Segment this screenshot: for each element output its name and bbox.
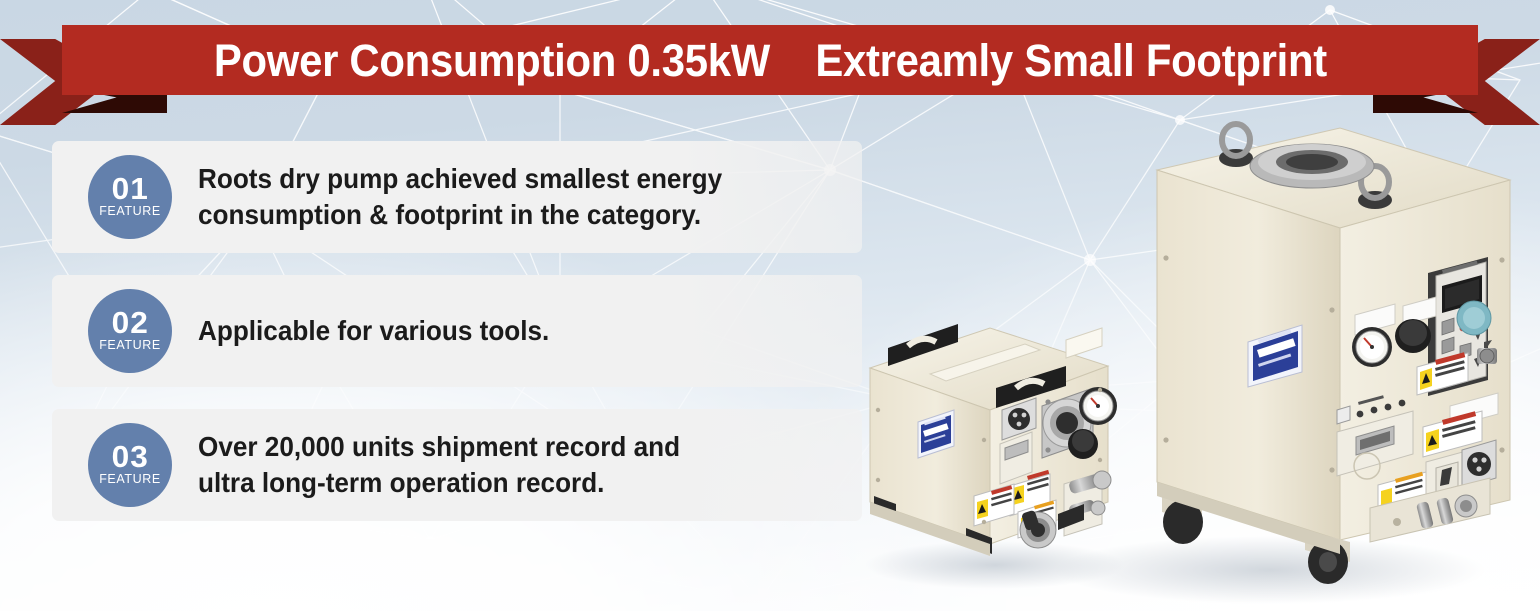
- regulator-knob-small: [1068, 429, 1098, 459]
- feature-badge-01: 01 FEATURE: [88, 155, 172, 239]
- purge-port-cap: [1457, 301, 1491, 335]
- feature-badge-02: 02 FEATURE: [88, 289, 172, 373]
- large-dry-pump: [1157, 124, 1510, 584]
- exhaust-port-connector: [1477, 348, 1497, 364]
- small-dry-pump: [870, 324, 1117, 556]
- feature-number-02: 02: [111, 308, 148, 337]
- ribbon-body: Power Consumption 0.35kW Extreamly Small…: [62, 25, 1478, 95]
- feature-card-03: 03 FEATURE Over 20,000 units shipment re…: [52, 409, 862, 521]
- feature-card-01: 01 FEATURE Roots dry pump achieved small…: [52, 141, 862, 253]
- feature-number-03: 03: [111, 442, 148, 471]
- vacuum-gauge-small: [1079, 387, 1117, 425]
- pressure-gauge-large: [1352, 327, 1392, 367]
- product-photo-dry-pumps: [850, 110, 1540, 611]
- feature-badge-03: 03 FEATURE: [88, 423, 172, 507]
- regulator-knob: [1395, 319, 1431, 353]
- feature-list: 01 FEATURE Roots dry pump achieved small…: [52, 141, 862, 543]
- flange-info-label: [1066, 328, 1102, 358]
- feature-text-02: Applicable for various tools.: [198, 313, 549, 349]
- eye-bolt-rear: [1219, 124, 1253, 167]
- ribbon-banner: Power Consumption 0.35kW Extreamly Small…: [0, 25, 1540, 125]
- feature-number-01: 01: [111, 174, 148, 203]
- feature-text-03: Over 20,000 units shipment record and ul…: [198, 429, 680, 502]
- feature-card-02: 02 FEATURE Applicable for various tools.: [52, 275, 862, 387]
- feature-text-01: Roots dry pump achieved smallest energy …: [198, 161, 722, 234]
- inlet-flange-top: [1250, 144, 1374, 188]
- shadow-small-pump: [865, 541, 1125, 589]
- banner-title: Power Consumption 0.35kW Extreamly Small…: [213, 38, 1326, 83]
